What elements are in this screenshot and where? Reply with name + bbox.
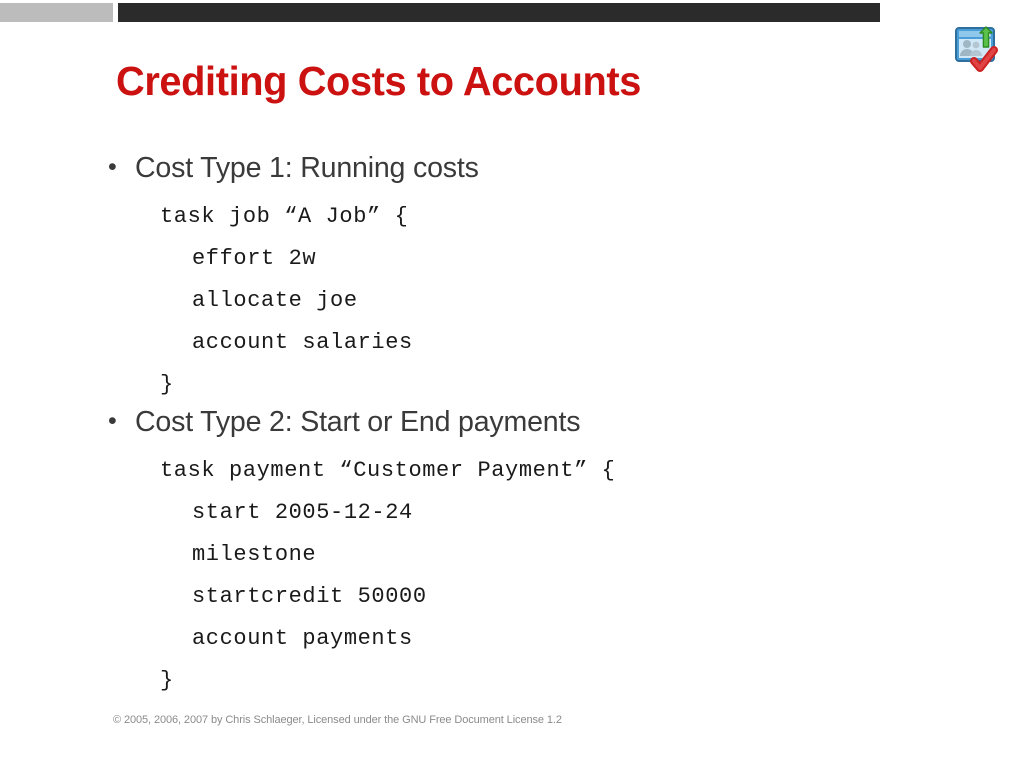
code-line: account payments bbox=[192, 618, 1024, 660]
code-line: account salaries bbox=[192, 322, 1024, 364]
code-line: start 2005-12-24 bbox=[192, 492, 1024, 534]
header-bar-left-accent bbox=[0, 3, 113, 22]
code-line: } bbox=[160, 364, 1024, 406]
bullet-label: Cost Type 2: Start or End payments bbox=[135, 406, 580, 439]
code-line: startcredit 50000 bbox=[192, 576, 1024, 618]
code-line: milestone bbox=[192, 534, 1024, 576]
code-line: task job “A Job” { bbox=[160, 196, 1024, 238]
bullet-item: Cost Type 1: Running costs bbox=[108, 152, 1024, 196]
slide-title: Crediting Costs to Accounts bbox=[116, 58, 892, 105]
code-line: } bbox=[160, 660, 1024, 702]
presentation-slide: Crediting Costs to Accounts Cost Type 1:… bbox=[0, 0, 1024, 768]
footer-copyright: © 2005, 2006, 2007 by Chris Schlaeger, L… bbox=[113, 714, 562, 726]
bullet-dot-icon bbox=[108, 409, 135, 434]
code-line: task payment “Customer Payment” { bbox=[160, 450, 1024, 492]
header-bar-right-accent bbox=[118, 3, 880, 22]
code-line: effort 2w bbox=[192, 238, 1024, 280]
bullet-dot-icon bbox=[108, 155, 135, 180]
bullet-item: Cost Type 2: Start or End payments bbox=[108, 406, 1024, 450]
bullet-label: Cost Type 1: Running costs bbox=[135, 152, 479, 185]
slide-body: Cost Type 1: Running costs task job “A J… bbox=[0, 152, 1024, 702]
code-line: allocate joe bbox=[192, 280, 1024, 322]
taskjuggler-logo-icon bbox=[953, 25, 1005, 75]
